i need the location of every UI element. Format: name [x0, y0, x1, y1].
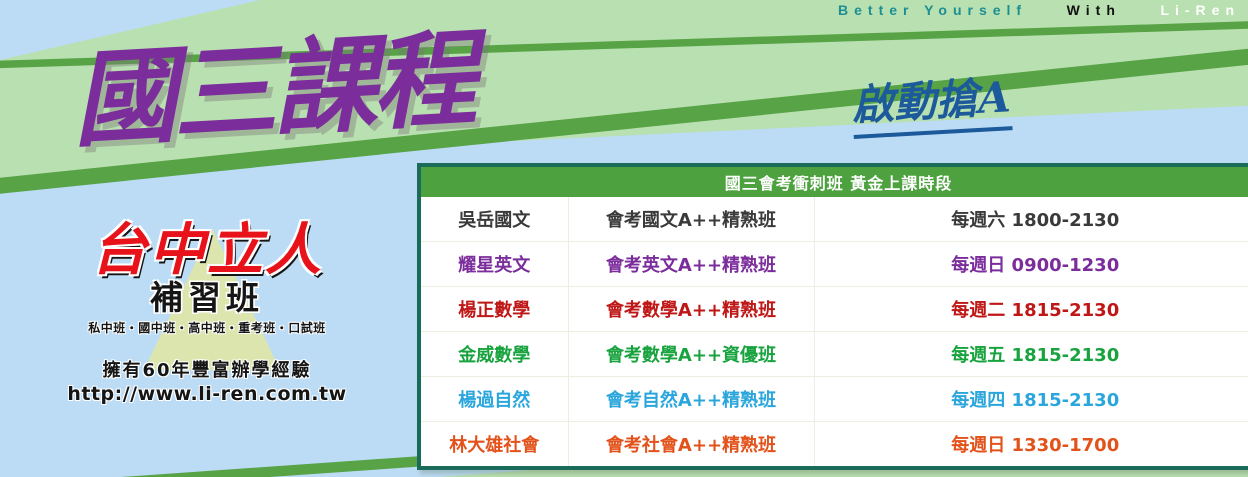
table-cell-course: 會考社會A++精熟班: [568, 422, 814, 467]
brand-tagline: Better Yourself With Li-Ren: [838, 2, 1240, 18]
table-row: 金威數學會考數學A++資優班每週五 1815-2130: [421, 332, 1248, 377]
page-subtitle: 啟動搶A: [850, 63, 1012, 139]
logo-class-types: 私中班・國中班・高中班・重考班・口試班: [52, 319, 362, 336]
school-logo: 台中立人 補習班 私中班・國中班・高中班・重考班・口試班 擁有60年豐富辦學經驗…: [52, 222, 362, 405]
table-row: 楊過自然會考自然A++精熟班每週四 1815-2130: [421, 377, 1248, 422]
logo-experience-text: 擁有60年豐富辦學經驗: [52, 356, 362, 382]
table-cell-course: 會考國文A++精熟班: [568, 197, 814, 242]
table-header-row: 國三會考衝刺班 黃金上課時段: [421, 167, 1248, 197]
table-row: 林大雄社會會考社會A++精熟班每週日 1330-1700: [421, 422, 1248, 467]
table-cell-course: 會考數學A++精熟班: [568, 287, 814, 332]
table-cell-teacher: 林大雄社會: [421, 422, 568, 467]
table-row: 耀星英文會考英文A++精熟班每週日 0900-1230: [421, 242, 1248, 287]
table-cell-course: 會考自然A++精熟班: [568, 377, 814, 422]
table-header-title: 國三會考衝刺班 黃金上課時段: [421, 167, 1248, 197]
logo-name-main: 台中立人: [52, 222, 362, 278]
table-cell-time: 每週六 1800-2130: [814, 197, 1248, 242]
schedule-table-container: 國三會考衝刺班 黃金上課時段 吳岳國文會考國文A++精熟班每週六 1800-21…: [417, 163, 1248, 470]
table-cell-time: 每週日 1330-1700: [814, 422, 1248, 467]
table-cell-course: 會考數學A++資優班: [568, 332, 814, 377]
tagline-segment-with: With: [1067, 2, 1121, 18]
table-cell-teacher: 楊正數學: [421, 287, 568, 332]
table-row: 吳岳國文會考國文A++精熟班每週六 1800-2130: [421, 197, 1248, 242]
table-cell-teacher: 吳岳國文: [421, 197, 568, 242]
schedule-table: 國三會考衝刺班 黃金上課時段 吳岳國文會考國文A++精熟班每週六 1800-21…: [421, 167, 1248, 466]
table-cell-teacher: 楊過自然: [421, 377, 568, 422]
poster-root: Better Yourself With Li-Ren 國三課程 啟動搶A 台中…: [0, 0, 1248, 477]
table-cell-time: 每週四 1815-2130: [814, 377, 1248, 422]
logo-website-url: http://www.li-ren.com.tw: [52, 383, 362, 405]
table-cell-course: 會考英文A++精熟班: [568, 242, 814, 287]
tagline-segment-li-ren: Li-Ren: [1160, 2, 1240, 18]
table-cell-teacher: 金威數學: [421, 332, 568, 377]
table-cell-time: 每週二 1815-2130: [814, 287, 1248, 332]
page-title: 國三課程: [68, 0, 476, 167]
logo-name-sub: 補習班: [52, 280, 362, 316]
table-cell-time: 每週五 1815-2130: [814, 332, 1248, 377]
table-cell-time: 每週日 0900-1230: [814, 242, 1248, 287]
table-row: 楊正數學會考數學A++精熟班每週二 1815-2130: [421, 287, 1248, 332]
tagline-segment-better-yourself: Better Yourself: [838, 2, 1027, 18]
table-cell-teacher: 耀星英文: [421, 242, 568, 287]
schedule-table-body: 吳岳國文會考國文A++精熟班每週六 1800-2130耀星英文會考英文A++精熟…: [421, 197, 1248, 466]
